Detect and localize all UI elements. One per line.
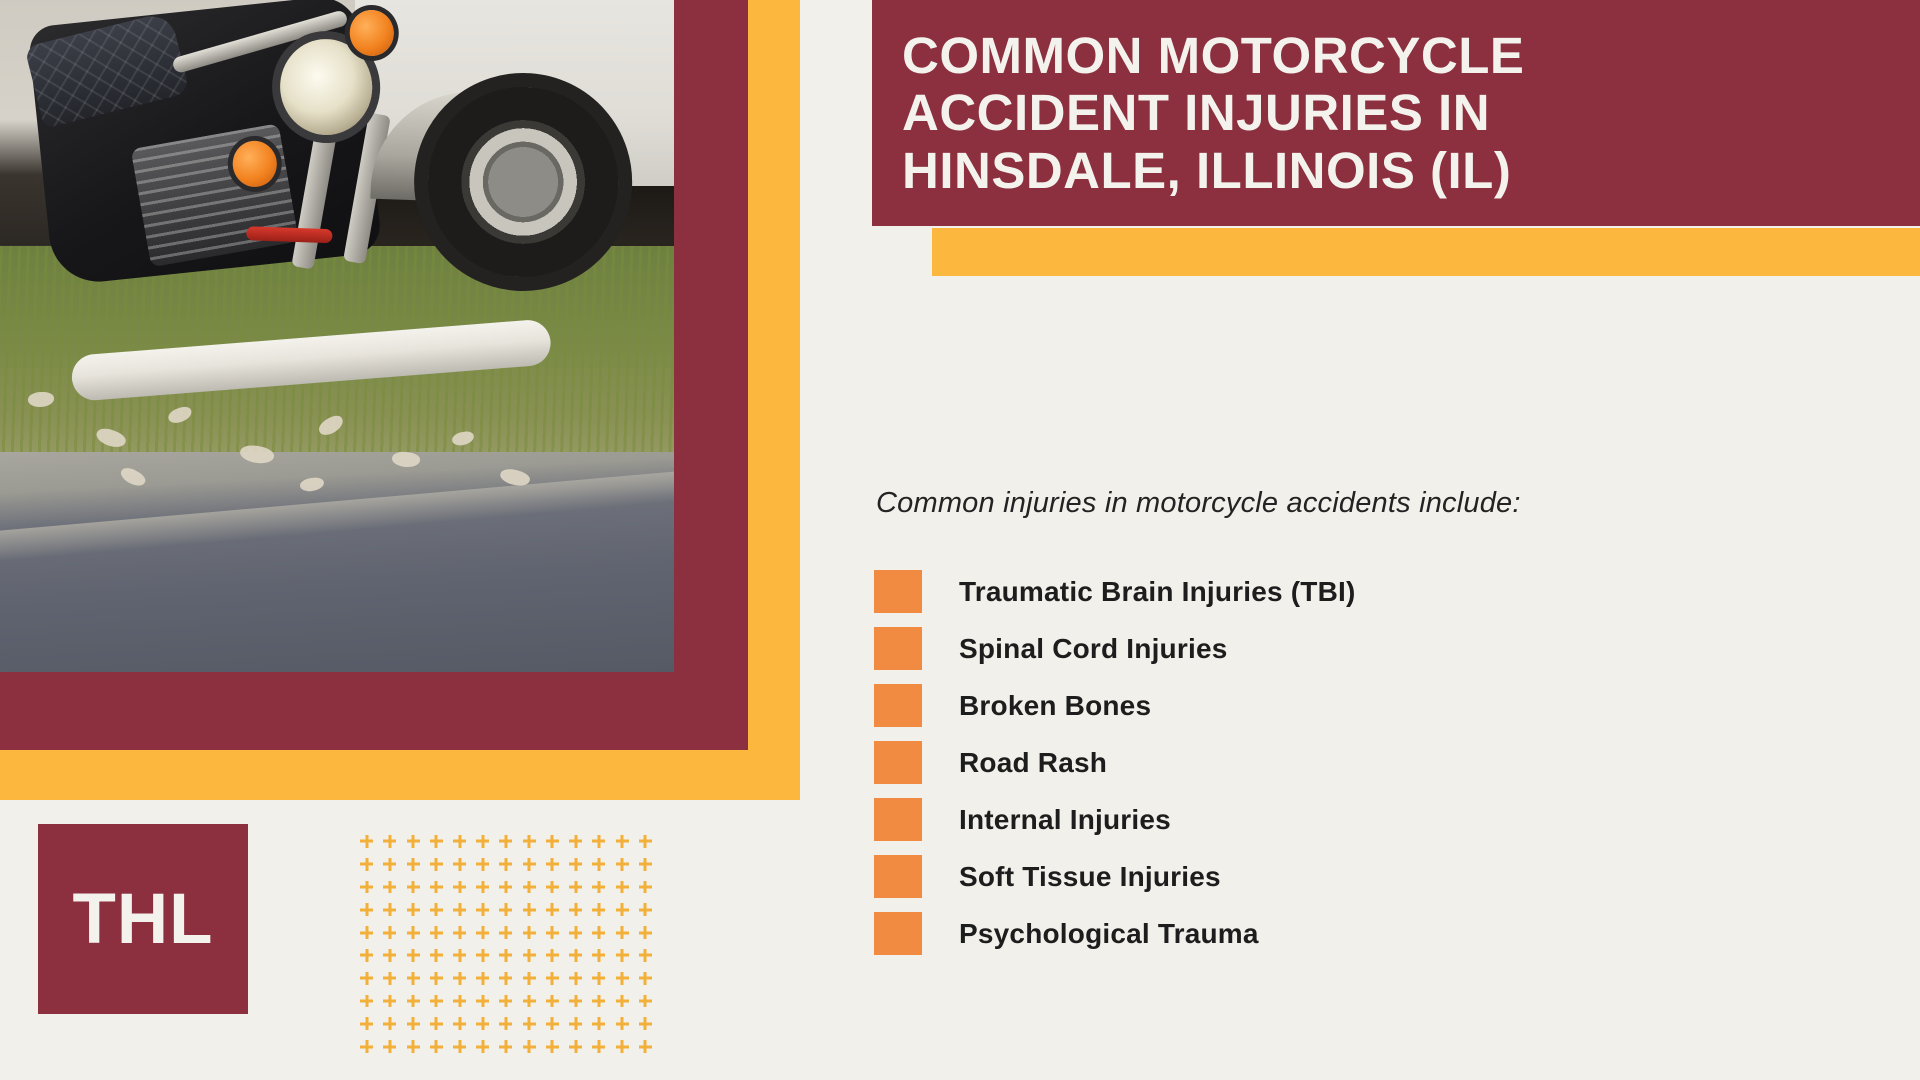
plus-icon [494,853,517,876]
plus-icon [541,830,564,853]
plus-icon [401,853,424,876]
list-item-label: Soft Tissue Injuries [959,861,1221,893]
plus-icon [541,921,564,944]
plus-icon [425,944,448,967]
plus-icon [471,921,494,944]
plus-icon [378,967,401,990]
plus-icon [401,990,424,1013]
plus-icon [494,990,517,1013]
plus-icon [378,1012,401,1035]
list-item-label: Internal Injuries [959,804,1171,836]
title-accent-bar [932,228,1920,276]
photo-front-fork-left [291,118,339,270]
list-item: Broken Bones [874,677,1774,734]
plus-icon [448,944,471,967]
plus-icon [634,853,657,876]
square-bullet-icon [874,855,922,898]
photo-motorcycle-body [27,0,382,287]
plus-icon [401,921,424,944]
injury-list: Traumatic Brain Injuries (TBI) Spinal Co… [874,563,1774,962]
list-item-label: Broken Bones [959,690,1151,722]
list-item: Psychological Trauma [874,905,1774,962]
plus-icon [587,898,610,921]
list-item: Road Rash [874,734,1774,791]
plus-icon [518,898,541,921]
plus-icon [634,921,657,944]
plus-icon [587,1035,610,1058]
plus-icon [494,921,517,944]
plus-icon [494,967,517,990]
list-item-label: Psychological Trauma [959,918,1259,950]
plus-icon [494,944,517,967]
plus-icon [471,944,494,967]
plus-icon [564,853,587,876]
square-bullet-icon [874,627,922,670]
plus-icon [518,1012,541,1035]
plus-icon [611,990,634,1013]
plus-icon [587,853,610,876]
plus-icon [634,1012,657,1035]
plus-icon [401,898,424,921]
photo-red-lever [246,226,332,243]
logo-text: THL [72,884,213,955]
plus-icon [518,853,541,876]
plus-icon [541,967,564,990]
plus-icon [355,944,378,967]
plus-icon [518,921,541,944]
square-bullet-icon [874,684,922,727]
plus-icon [494,898,517,921]
plus-icon [401,1012,424,1035]
plus-icon [425,1012,448,1035]
plus-icon [448,1012,471,1035]
plus-icon [564,921,587,944]
square-bullet-icon [874,570,922,613]
title-banner: COMMON MOTORCYCLE ACCIDENT INJURIES IN H… [872,0,1920,226]
plus-icon [448,876,471,899]
plus-icon [378,830,401,853]
plus-icon [355,1012,378,1035]
plus-icon [564,1035,587,1058]
plus-icon [448,1035,471,1058]
plus-icon [448,990,471,1013]
plus-icon [355,853,378,876]
plus-pattern-decoration [355,830,657,1058]
plus-icon [634,898,657,921]
page-title: COMMON MOTORCYCLE ACCIDENT INJURIES IN H… [872,27,1692,200]
plus-icon [494,1035,517,1058]
plus-icon [611,944,634,967]
plus-icon [541,898,564,921]
plus-icon [541,944,564,967]
plus-icon [448,967,471,990]
plus-icon [494,830,517,853]
plus-icon [355,876,378,899]
plus-icon [355,967,378,990]
plus-icon [518,876,541,899]
plus-icon [401,967,424,990]
plus-icon [541,1012,564,1035]
plus-icon [634,967,657,990]
photo-motorcycle-seat [24,11,190,129]
plus-icon [378,944,401,967]
plus-icon [587,967,610,990]
plus-icon [587,876,610,899]
plus-icon [355,830,378,853]
plus-icon [611,853,634,876]
plus-icon [634,830,657,853]
plus-icon [541,1035,564,1058]
plus-icon [355,990,378,1013]
plus-icon [471,876,494,899]
list-item: Internal Injuries [874,791,1774,848]
plus-icon [425,967,448,990]
plus-icon [425,990,448,1013]
plus-icon [541,990,564,1013]
plus-icon [425,830,448,853]
plus-icon [401,876,424,899]
plus-icon [471,830,494,853]
plus-icon [587,830,610,853]
plus-icon [564,876,587,899]
plus-icon [425,898,448,921]
plus-icon [401,1035,424,1058]
plus-icon [425,1035,448,1058]
plus-icon [611,898,634,921]
plus-icon [611,830,634,853]
plus-icon [587,1012,610,1035]
plus-icon [448,853,471,876]
plus-icon [448,830,471,853]
plus-icon [611,967,634,990]
plus-icon [378,876,401,899]
list-item: Spinal Cord Injuries [874,620,1774,677]
plus-icon [564,990,587,1013]
plus-icon [378,853,401,876]
list-item-label: Traumatic Brain Injuries (TBI) [959,576,1356,608]
plus-icon [448,921,471,944]
plus-icon [634,990,657,1013]
plus-icon [378,921,401,944]
plus-icon [355,1035,378,1058]
plus-icon [378,1035,401,1058]
list-item-label: Spinal Cord Injuries [959,633,1227,665]
plus-icon [471,990,494,1013]
lead-paragraph: Common injuries in motorcycle accidents … [876,487,1836,520]
plus-icon [378,898,401,921]
plus-icon [634,1035,657,1058]
plus-icon [541,876,564,899]
thl-logo: THL [38,824,248,1014]
plus-icon [425,876,448,899]
square-bullet-icon [874,912,922,955]
plus-icon [494,876,517,899]
plus-icon [471,853,494,876]
list-item: Soft Tissue Injuries [874,848,1774,905]
plus-icon [518,830,541,853]
plus-icon [425,853,448,876]
square-bullet-icon [874,798,922,841]
plus-icon [518,944,541,967]
plus-icon [634,944,657,967]
plus-icon [564,967,587,990]
plus-icon [471,1012,494,1035]
plus-icon [564,944,587,967]
plus-icon [425,921,448,944]
plus-icon [541,853,564,876]
infographic-canvas: COMMON MOTORCYCLE ACCIDENT INJURIES IN H… [0,0,1920,1080]
plus-icon [355,921,378,944]
plus-icon [518,967,541,990]
plus-icon [518,990,541,1013]
list-item-label: Road Rash [959,747,1107,779]
plus-icon [355,898,378,921]
plus-icon [471,898,494,921]
plus-icon [518,1035,541,1058]
plus-icon [401,944,424,967]
plus-icon [611,1035,634,1058]
plus-icon [634,876,657,899]
plus-icon [471,1035,494,1058]
motorcycle-accident-photo [0,0,674,672]
plus-icon [564,1012,587,1035]
plus-icon [587,944,610,967]
plus-icon [378,990,401,1013]
plus-icon [587,921,610,944]
plus-icon [494,1012,517,1035]
plus-icon [564,898,587,921]
list-item: Traumatic Brain Injuries (TBI) [874,563,1774,620]
square-bullet-icon [874,741,922,784]
plus-icon [611,876,634,899]
plus-icon [448,898,471,921]
plus-icon [471,967,494,990]
plus-icon [587,990,610,1013]
photo-engine-block [131,123,300,267]
plus-icon [611,921,634,944]
plus-icon [611,1012,634,1035]
plus-icon [564,830,587,853]
plus-icon [401,830,424,853]
